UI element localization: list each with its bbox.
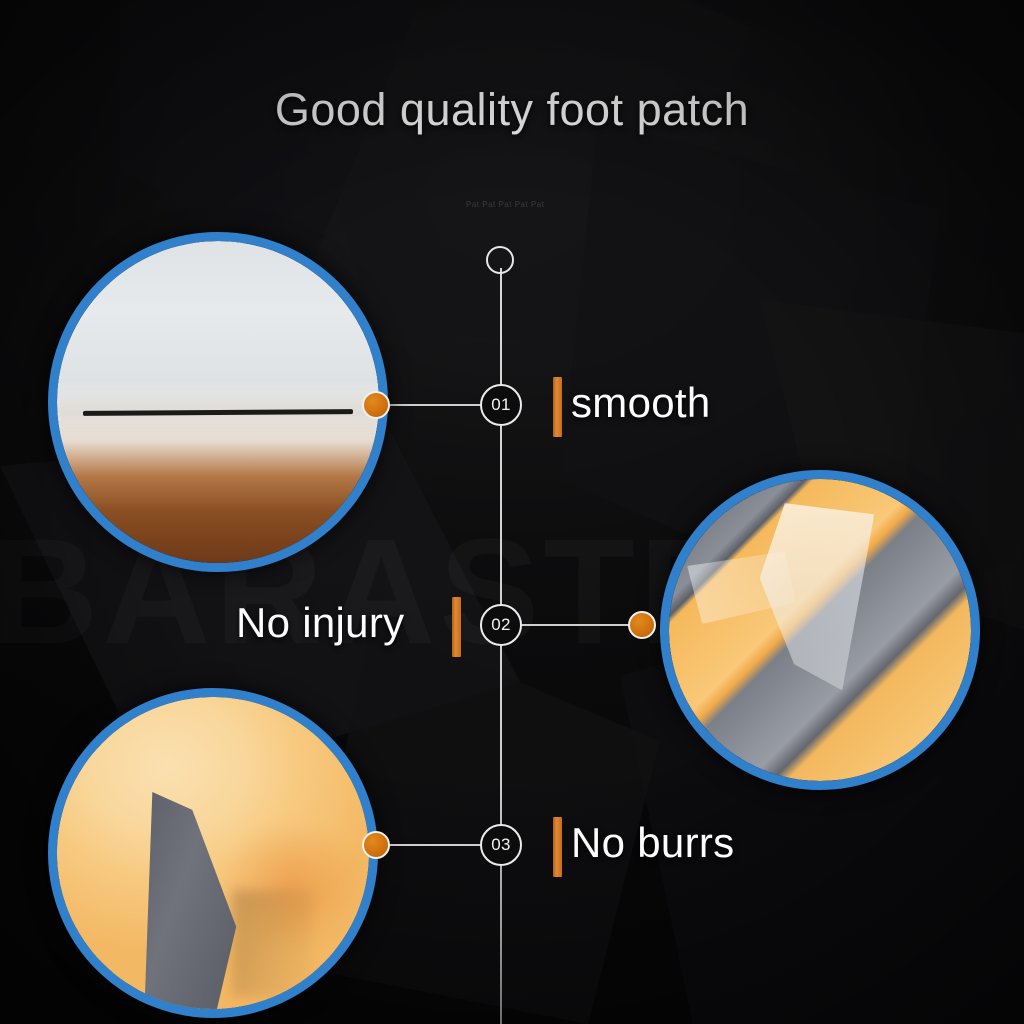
- photo-smooth-edge-closeup: [57, 241, 379, 563]
- product-infographic: BARASTEP Pat Pat Pat Pat Pat Good qualit…: [0, 0, 1024, 1024]
- connector-line-02: [520, 624, 640, 626]
- connector-line-01: [386, 404, 484, 406]
- photo-patch-tip-closeup: [57, 697, 369, 1009]
- feature-label-03: No burrs: [571, 819, 734, 867]
- feature-label-02: No injury: [236, 599, 404, 647]
- photo-peel-film-closeup: [669, 479, 971, 781]
- axis-line: [500, 268, 502, 1024]
- feature-photo-bubble-01: [48, 232, 388, 572]
- page-title: Good quality foot patch: [0, 84, 1024, 136]
- feature-photo-bubble-02: [660, 470, 980, 790]
- step-marker-02: 02: [480, 604, 522, 646]
- feature-label-01: smooth: [571, 379, 711, 427]
- micro-watermark: Pat Pat Pat Pat Pat: [466, 200, 544, 209]
- step-marker-03: 03: [480, 824, 522, 866]
- step-marker-01: 01: [480, 384, 522, 426]
- photo-shadow: [232, 890, 313, 996]
- anchor-dot-02: [628, 611, 656, 639]
- accent-bar-01: [553, 377, 562, 437]
- connector-line-03: [386, 844, 484, 846]
- anchor-dot-01: [362, 391, 390, 419]
- anchor-dot-03: [362, 831, 390, 859]
- accent-bar-02: [452, 597, 461, 657]
- accent-bar-03: [553, 817, 562, 877]
- feature-photo-bubble-03: [48, 688, 378, 1018]
